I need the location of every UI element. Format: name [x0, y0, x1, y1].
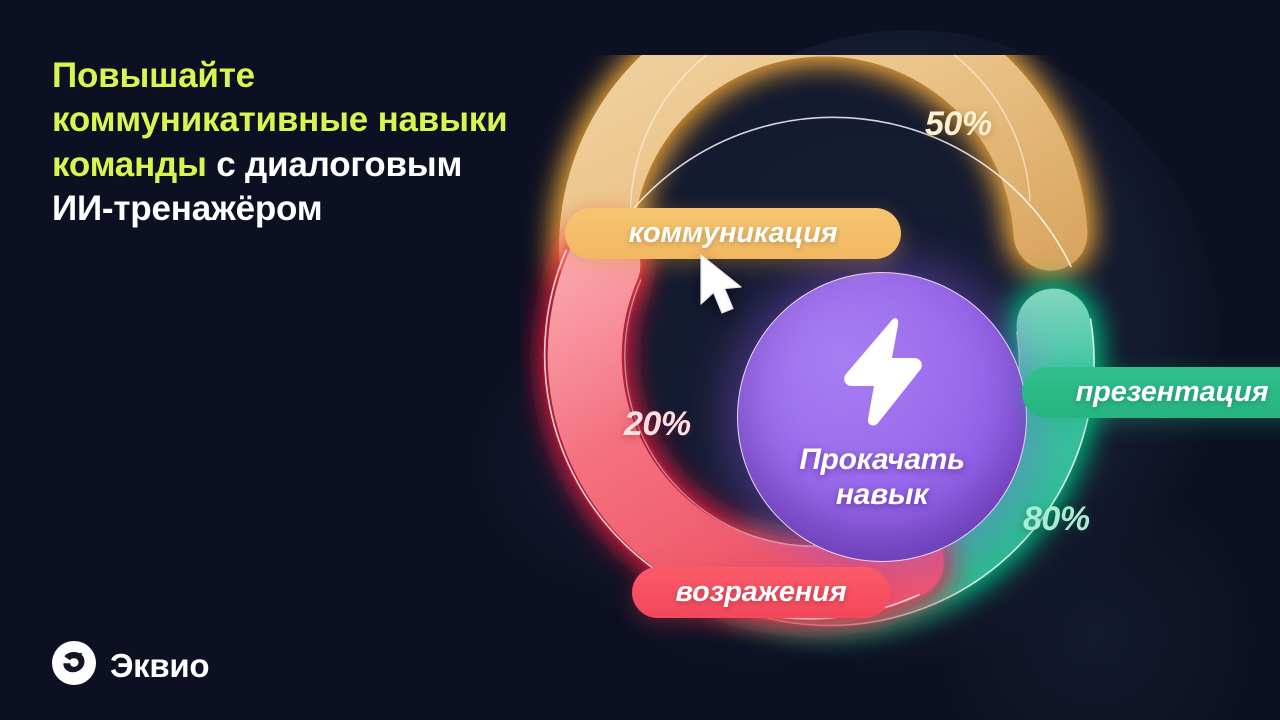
lightning-bolt-icon	[834, 316, 930, 431]
value-label-communication: 50%	[925, 105, 992, 144]
headline-line-4: ИИ-тренажёром	[52, 189, 322, 228]
brand-wordmark: Эквио	[110, 647, 209, 685]
center-cta-circle[interactable]: Прокачать навык	[737, 272, 1027, 562]
pill-objections[interactable]: возражения	[632, 567, 890, 618]
center-label-line-1: Прокачать	[799, 443, 964, 476]
headline-line-2: коммуникативные навыки	[52, 100, 507, 139]
brand-logo[interactable]: Эквио	[52, 641, 209, 690]
mouse-cursor-icon	[696, 252, 752, 329]
donut-segment-communication[interactable]	[583, 55, 1071, 298]
value-label-objections: 20%	[624, 405, 691, 444]
center-label-line-2: навык	[836, 478, 928, 511]
center-cta-label: Прокачать навык	[799, 443, 964, 513]
headline-line-3-accent: команды	[52, 145, 207, 184]
pill-presentation[interactable]: презентация	[1022, 367, 1280, 418]
value-label-presentation: 80%	[1023, 500, 1090, 539]
headline-line-3-plain: с диалоговым	[207, 145, 462, 184]
ekvio-logo-icon	[52, 641, 96, 690]
promo-banner: Повышайте коммуникативные навыки команды…	[0, 0, 1280, 720]
headline-line-1: Повышайте	[52, 56, 255, 95]
